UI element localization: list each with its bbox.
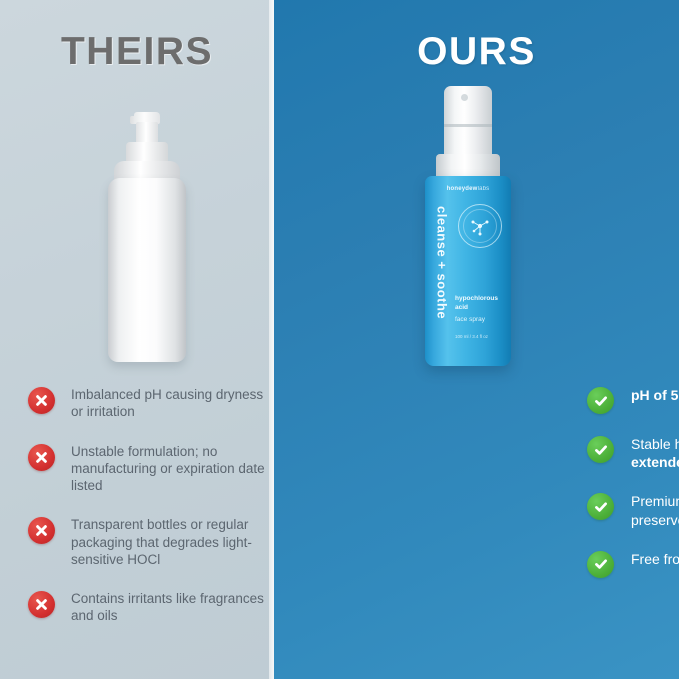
list-item-label: Contains irritants like fragrances and o…	[71, 590, 268, 625]
list-item-label: pH of 5.5 for skin's ideal balance	[631, 386, 679, 404]
brand-suffix: labs	[478, 186, 490, 192]
vertical-label-text: cleanse + soothe	[435, 206, 450, 319]
list-item: Stable hypochlorous acid formulation for…	[587, 435, 679, 471]
right-bullet-list: pH of 5.5 for skin's ideal balance Stabl…	[587, 386, 679, 599]
list-item: Imbalanced pH causing dryness or irritat…	[28, 386, 268, 421]
x-mark-icon	[28, 517, 55, 544]
x-mark-icon	[28, 591, 55, 618]
list-item: Premium, airtight, recyclable PET packag…	[587, 492, 679, 528]
brand-name: honeydew	[447, 186, 478, 192]
bottle-cap-seam	[444, 124, 492, 127]
bottle-brand-label: honeydewlabs	[425, 186, 511, 192]
check-mark-icon	[587, 387, 614, 414]
list-item: Transparent bottles or regular packaging…	[28, 516, 268, 568]
x-mark-icon	[28, 444, 55, 471]
list-item-label: Stable hypochlorous acid formulation for…	[631, 435, 679, 471]
check-mark-icon	[587, 551, 614, 578]
molecule-badge-icon	[458, 204, 502, 248]
right-panel-title: OURS	[274, 30, 679, 74]
check-mark-icon	[587, 493, 614, 520]
bottle-body	[108, 178, 186, 362]
left-bullet-list: Imbalanced pH causing dryness or irritat…	[28, 386, 268, 647]
bottle-description-sub: face spray	[455, 315, 509, 324]
competitor-product-bottle	[106, 112, 188, 362]
bottle-cap-dot	[461, 94, 468, 101]
our-product-bottle: honeydewlabs cleanse + soothe	[425, 86, 525, 366]
list-item-label: Unstable formulation; no manufacturing o…	[71, 443, 268, 495]
check-mark-icon	[587, 436, 614, 463]
left-comparison-panel: THEIRS Imbalanced pH causing dryness or …	[0, 0, 274, 679]
left-panel-title: THEIRS	[0, 30, 274, 74]
list-item: Free from alcohol, oils, and fragrances	[587, 550, 679, 578]
bottle-body: honeydewlabs cleanse + soothe	[425, 176, 511, 366]
list-item-label: Imbalanced pH causing dryness or irritat…	[71, 386, 268, 421]
list-item: Contains irritants like fragrances and o…	[28, 590, 268, 625]
bottle-cap	[444, 86, 492, 158]
right-comparison-panel: OURS honeydewlabs cleanse + soothe	[274, 0, 679, 679]
list-item: pH of 5.5 for skin's ideal balance	[587, 386, 679, 414]
x-mark-icon	[28, 387, 55, 414]
list-item-label: Premium, airtight, recyclable PET packag…	[631, 492, 679, 528]
list-item: Unstable formulation; no manufacturing o…	[28, 443, 268, 495]
bottle-volume-label: 100 ml / 3.4 fl oz	[455, 334, 509, 339]
bottle-description-bold: hypochlorous acid	[455, 294, 509, 313]
list-item-label: Free from alcohol, oils, and fragrances	[631, 550, 679, 568]
bottle-description: hypochlorous acid face spray	[455, 294, 509, 324]
bottle-vertical-label: cleanse + soothe	[431, 206, 453, 356]
comparison-infographic: THEIRS Imbalanced pH causing dryness or …	[0, 0, 679, 679]
list-item-label: Transparent bottles or regular packaging…	[71, 516, 268, 568]
